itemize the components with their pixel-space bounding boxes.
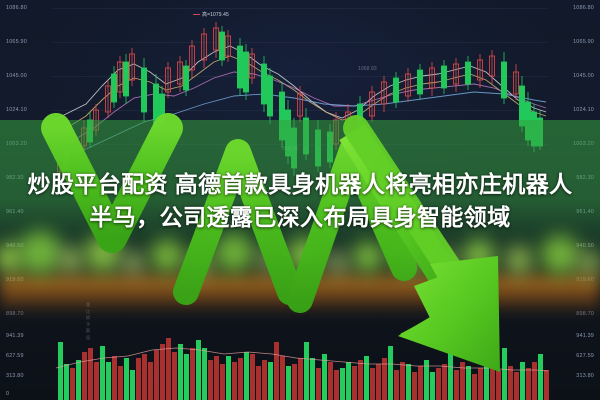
volume-tick-left-3: 0 [6, 392, 9, 397]
price-tick-right-2: 1045.00 [573, 74, 594, 79]
price-tick-left-1: 1065.90 [6, 40, 27, 45]
price-tick-right-7: 940.50 [576, 244, 594, 249]
price-tick-left-3: 1024.10 [6, 108, 27, 113]
low-price-annotation: 912.26 [282, 146, 298, 152]
volume-tick-right-2: 313.80 [576, 374, 594, 379]
price-tick-left-7: 940.50 [6, 244, 24, 249]
headline-text: 炒股平台配资 高德首款具身机器人将亮相亦庄机器人半马，公司透露已深入布局具身智能… [18, 168, 582, 233]
volume-tick-right-0: 941.39 [576, 334, 594, 339]
volume-tick-left-0: 941.39 [6, 334, 24, 339]
volume-bars [56, 338, 549, 400]
secondary-price-annotation: 1068.93 [358, 66, 377, 72]
price-tick-right-9: 898.70 [576, 312, 594, 317]
price-tick-left-4: 1003.20 [6, 142, 27, 147]
high-price-annotation: 高=1079.45 [202, 11, 229, 18]
price-tick-right-0: 1086.80 [573, 6, 594, 11]
volume-tick-right-1: 627.59 [576, 354, 594, 359]
price-tick-right-4: 1003.20 [573, 142, 594, 147]
candlestick-plot [0, 0, 600, 300]
volume-tick-left-2: 313.80 [6, 374, 24, 379]
price-tick-left-0: 1086.80 [6, 6, 27, 11]
news-banner-image: 1086.80 1065.90 1045.00 1024.10 1003.20 … [0, 0, 600, 400]
volume-side-readout: 量 比 换 手 额 值 [86, 302, 90, 341]
price-tick-left-2: 1045.00 [6, 74, 27, 79]
price-tick-left-9: 898.70 [6, 312, 24, 317]
price-tick-right-8: 919.60 [576, 278, 594, 283]
high-marker-tick [193, 14, 200, 15]
price-tick-right-3: 1024.10 [573, 108, 594, 113]
volume-tick-left-1: 627.59 [6, 354, 24, 359]
price-tick-left-8: 919.60 [6, 278, 24, 283]
price-tick-right-1: 1065.90 [573, 40, 594, 45]
